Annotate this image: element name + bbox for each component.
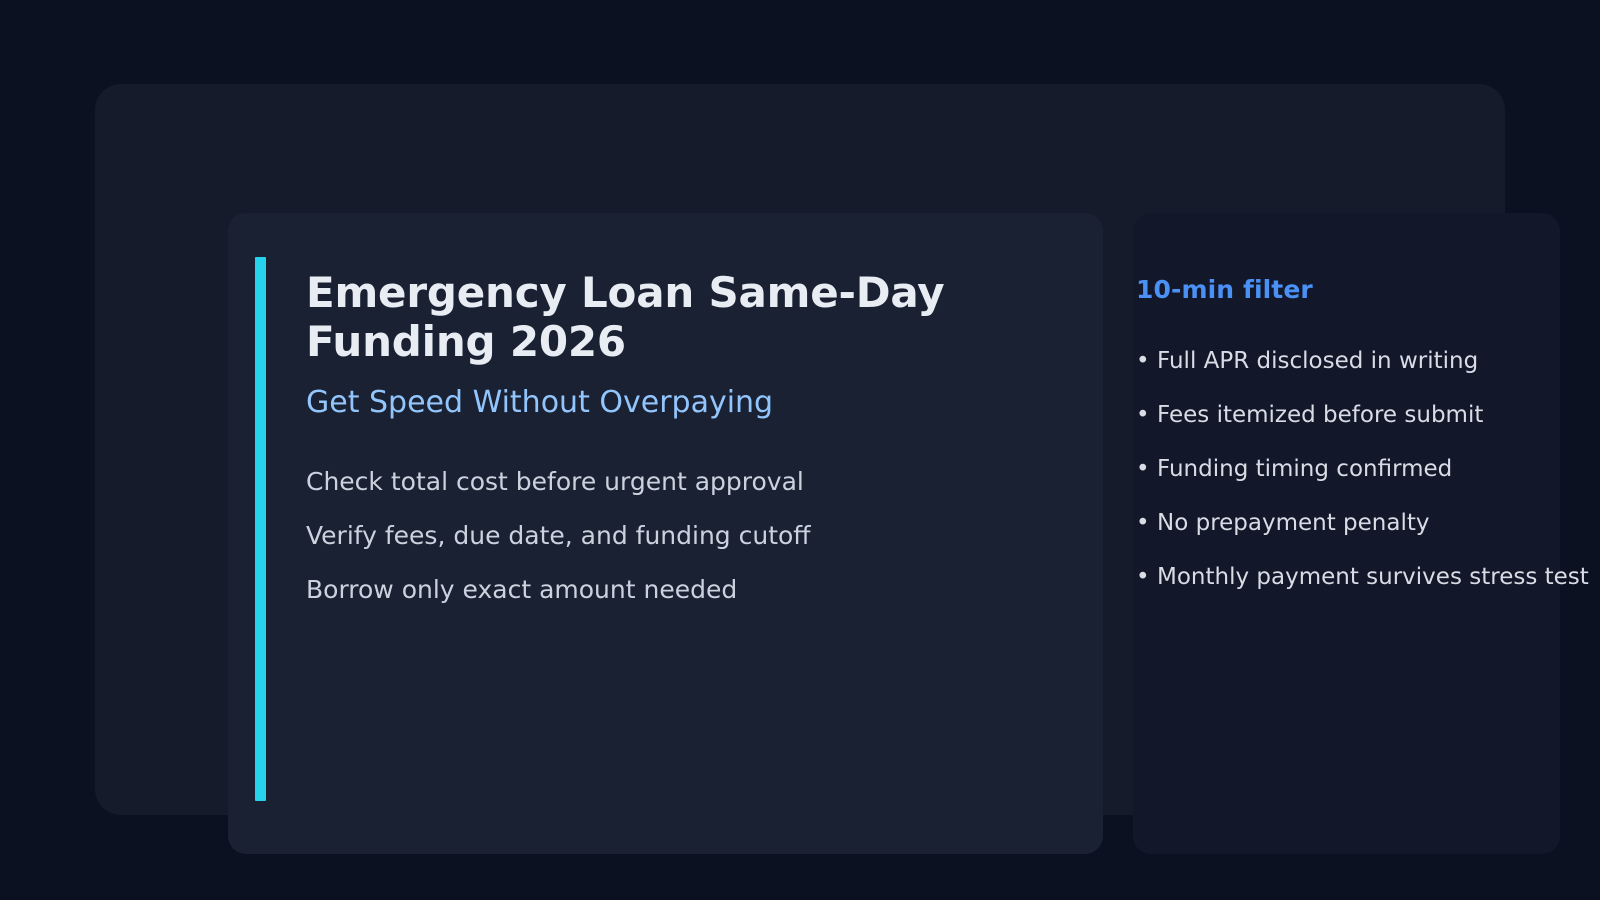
list-item: • Full APR disclosed in writing: [1133, 334, 1600, 388]
list-item-label: Full APR disclosed in writing: [1157, 348, 1478, 374]
bullet-icon: •: [1136, 334, 1150, 388]
bullet-icon: •: [1136, 496, 1150, 550]
checklist-items: • Full APR disclosed in writing • Fees i…: [1133, 334, 1600, 604]
list-item: Verify fees, due date, and funding cutof…: [306, 509, 1063, 563]
secondary-checklist-card: 10-min filter • Full APR disclosed in wr…: [1133, 213, 1560, 854]
bullet-icon: •: [1136, 388, 1150, 442]
list-item: • Funding timing confirmed: [1133, 442, 1600, 496]
accent-bar: [255, 257, 266, 801]
primary-content-card: Emergency Loan Same-Day Funding 2026 Get…: [228, 213, 1103, 854]
list-item: • Fees itemized before submit: [1133, 388, 1600, 442]
page-subtitle: Get Speed Without Overpaying: [306, 385, 1063, 421]
list-item-label: No prepayment penalty: [1157, 510, 1430, 536]
slide-canvas: Emergency Loan Same-Day Funding 2026 Get…: [0, 0, 1600, 900]
bullet-icon: •: [1136, 550, 1150, 604]
checklist-heading: 10-min filter: [1133, 275, 1600, 304]
list-item-label: Funding timing confirmed: [1157, 456, 1452, 482]
list-item: Borrow only exact amount needed: [306, 563, 1063, 617]
page-title: Emergency Loan Same-Day Funding 2026: [306, 268, 966, 366]
list-item: • No prepayment penalty: [1133, 496, 1600, 550]
key-points-list: Check total cost before urgent approval …: [306, 455, 1063, 617]
list-item-label: Fees itemized before submit: [1157, 402, 1483, 428]
bullet-icon: •: [1136, 442, 1150, 496]
list-item: • Monthly payment survives stress test: [1133, 550, 1600, 604]
primary-card-body: Emergency Loan Same-Day Funding 2026 Get…: [306, 268, 1063, 617]
list-item: Check total cost before urgent approval: [306, 455, 1063, 509]
outer-shell-panel: Emergency Loan Same-Day Funding 2026 Get…: [95, 84, 1505, 815]
list-item-label: Monthly payment survives stress test: [1157, 564, 1589, 590]
secondary-card-body: 10-min filter • Full APR disclosed in wr…: [1133, 275, 1600, 604]
